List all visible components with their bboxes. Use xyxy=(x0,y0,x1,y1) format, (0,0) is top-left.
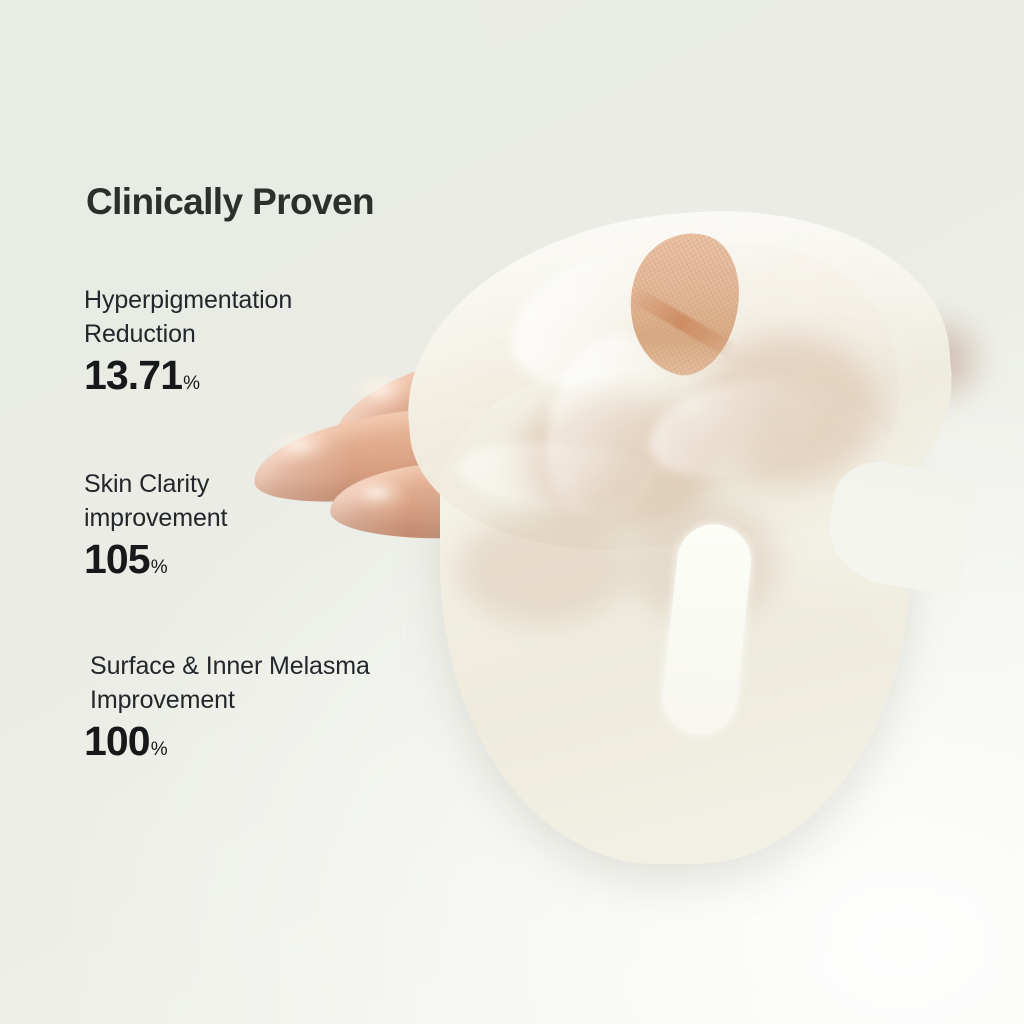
stat-value: 105 % xyxy=(84,539,227,580)
stat-number: 105 xyxy=(84,539,150,580)
stat-block-hyperpigmentation: Hyperpigmentation Reduction 13.71 % xyxy=(84,284,292,396)
stat-label: Skin Clarity improvement xyxy=(84,468,227,535)
page-title: Clinically Proven xyxy=(86,182,374,223)
stat-block-skin-clarity: Skin Clarity improvement 105 % xyxy=(84,468,227,580)
stat-number: 100 xyxy=(84,721,150,762)
stat-value: 13.71 % xyxy=(84,355,292,396)
stat-percent-symbol: % xyxy=(183,374,200,393)
stat-percent-symbol: % xyxy=(151,558,168,577)
stat-number: 13.71 xyxy=(84,355,182,396)
copy-layer: Clinically Proven Hyperpigmentation Redu… xyxy=(0,0,1024,1024)
stat-percent-symbol: % xyxy=(151,740,168,759)
promo-graphic: Clinically Proven Hyperpigmentation Redu… xyxy=(0,0,1024,1024)
stat-block-melasma: Surface & Inner Melasma Improvement 100 … xyxy=(90,650,370,762)
stat-label: Hyperpigmentation Reduction xyxy=(84,284,292,351)
stat-label: Surface & Inner Melasma Improvement xyxy=(90,650,370,717)
stat-value: 100 % xyxy=(84,721,370,762)
